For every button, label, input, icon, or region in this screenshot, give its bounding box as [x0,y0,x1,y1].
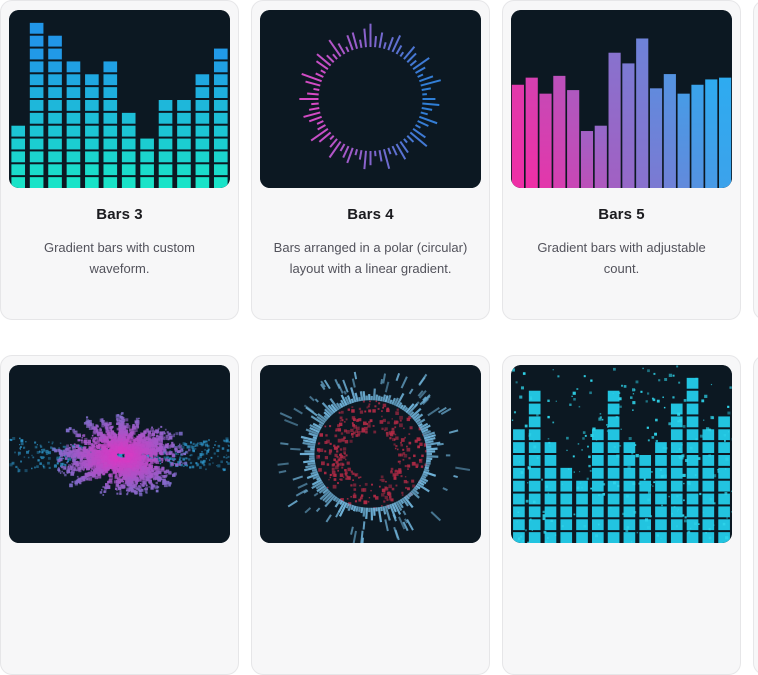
card-bars-5[interactable]: Bars 5 Gradient bars with adjustable cou… [502,0,741,320]
canvas-burst [9,365,230,543]
card-bars-4[interactable]: Bars 4 Bars arranged in a polar (circula… [251,0,490,320]
card-description: Gradient bars with adjustable count. [519,237,724,279]
visualization-preview-burst[interactable] [9,365,230,543]
canvas-circular-particles [260,365,481,543]
card-circular-particles[interactable] [251,355,490,675]
card-description: Gradient bars with custom waveform. [17,237,222,279]
visualization-preview-bars-3[interactable] [9,10,230,188]
visualization-preview-equalizer-particles[interactable] [511,365,732,543]
canvas-bars-3 [9,10,230,188]
visualization-preview-circular-particles[interactable] [260,365,481,543]
canvas-bars-4 [260,10,481,188]
canvas-equalizer-particles [511,365,732,543]
canvas-bars-5 [511,10,732,188]
card-partial-top[interactable] [753,0,758,320]
card-title: Bars 3 [96,206,142,223]
visualizer-gallery: Bars 3 Gradient bars with custom wavefor… [0,0,758,675]
visualization-preview-bars-4[interactable] [260,10,481,188]
card-bars-3[interactable]: Bars 3 Gradient bars with custom wavefor… [0,0,239,320]
visualization-preview-bars-5[interactable] [511,10,732,188]
card-burst[interactable] [0,355,239,675]
card-equalizer-particles[interactable] [502,355,741,675]
card-description: Bars arranged in a polar (circular) layo… [268,237,473,279]
card-title: Bars 5 [598,206,644,223]
card-title: Bars 4 [347,206,393,223]
card-partial-bottom[interactable] [753,355,758,675]
